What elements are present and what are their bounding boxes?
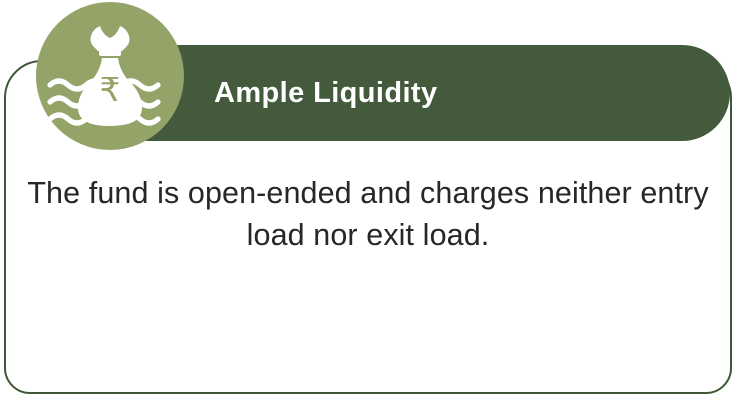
card-body: The fund is open-ended and charges neith…	[4, 172, 732, 256]
ample-liquidity-info-card: Ample Liquidity ₹ The fund is open-ended…	[0, 0, 742, 402]
card-title: Ample Liquidity	[214, 79, 438, 108]
card-header-bar: Ample Liquidity	[108, 45, 730, 141]
svg-text:₹: ₹	[100, 70, 121, 109]
card-description: The fund is open-ended and charges neith…	[26, 172, 710, 256]
money-bag-in-water-icon: ₹	[36, 2, 184, 150]
